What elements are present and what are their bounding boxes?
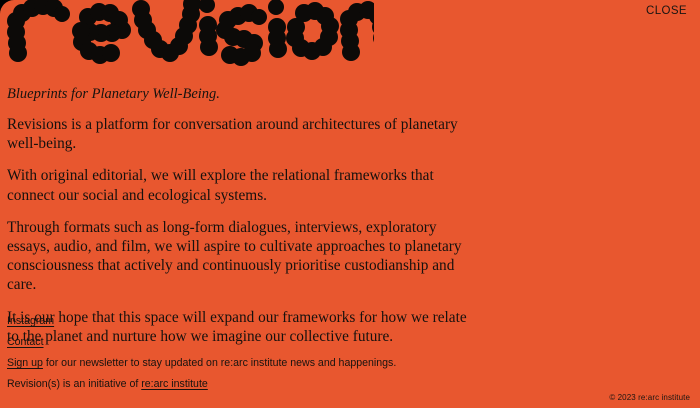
paragraph-1: Revisions is a platform for conversation…: [7, 115, 477, 153]
copyright-notice: © 2023 re:arc institute: [609, 393, 690, 402]
revisions-logo: [2, 0, 374, 73]
footer-links: Instagram Contact Sign up for our newsle…: [7, 315, 527, 391]
initiative-text: Revision(s) is an initiative of: [7, 378, 141, 390]
footer-row-newsletter: Sign up for our newsletter to stay updat…: [7, 357, 527, 370]
footer-row-initiative: Revision(s) is an initiative of re:arc i…: [7, 378, 527, 391]
contact-link[interactable]: Contact: [7, 336, 44, 348]
revisions-landing-page: CLOSE: [0, 0, 700, 408]
footer-row-contact: Contact: [7, 336, 527, 349]
paragraph-2: With original editorial, we will explore…: [7, 166, 477, 204]
instagram-link[interactable]: Instagram: [7, 315, 54, 327]
rearc-institute-link[interactable]: re:arc institute: [141, 378, 208, 390]
close-button[interactable]: CLOSE: [646, 5, 687, 17]
tagline: Blueprints for Planetary Well-Being.: [7, 85, 477, 103]
newsletter-text: for our newsletter to stay updated on re…: [43, 357, 396, 369]
signup-link[interactable]: Sign up: [7, 357, 43, 369]
footer-row-instagram: Instagram: [7, 315, 527, 328]
paragraph-3: Through formats such as long-form dialog…: [7, 218, 477, 295]
intro-copy: Blueprints for Planetary Well-Being. Rev…: [7, 85, 477, 346]
